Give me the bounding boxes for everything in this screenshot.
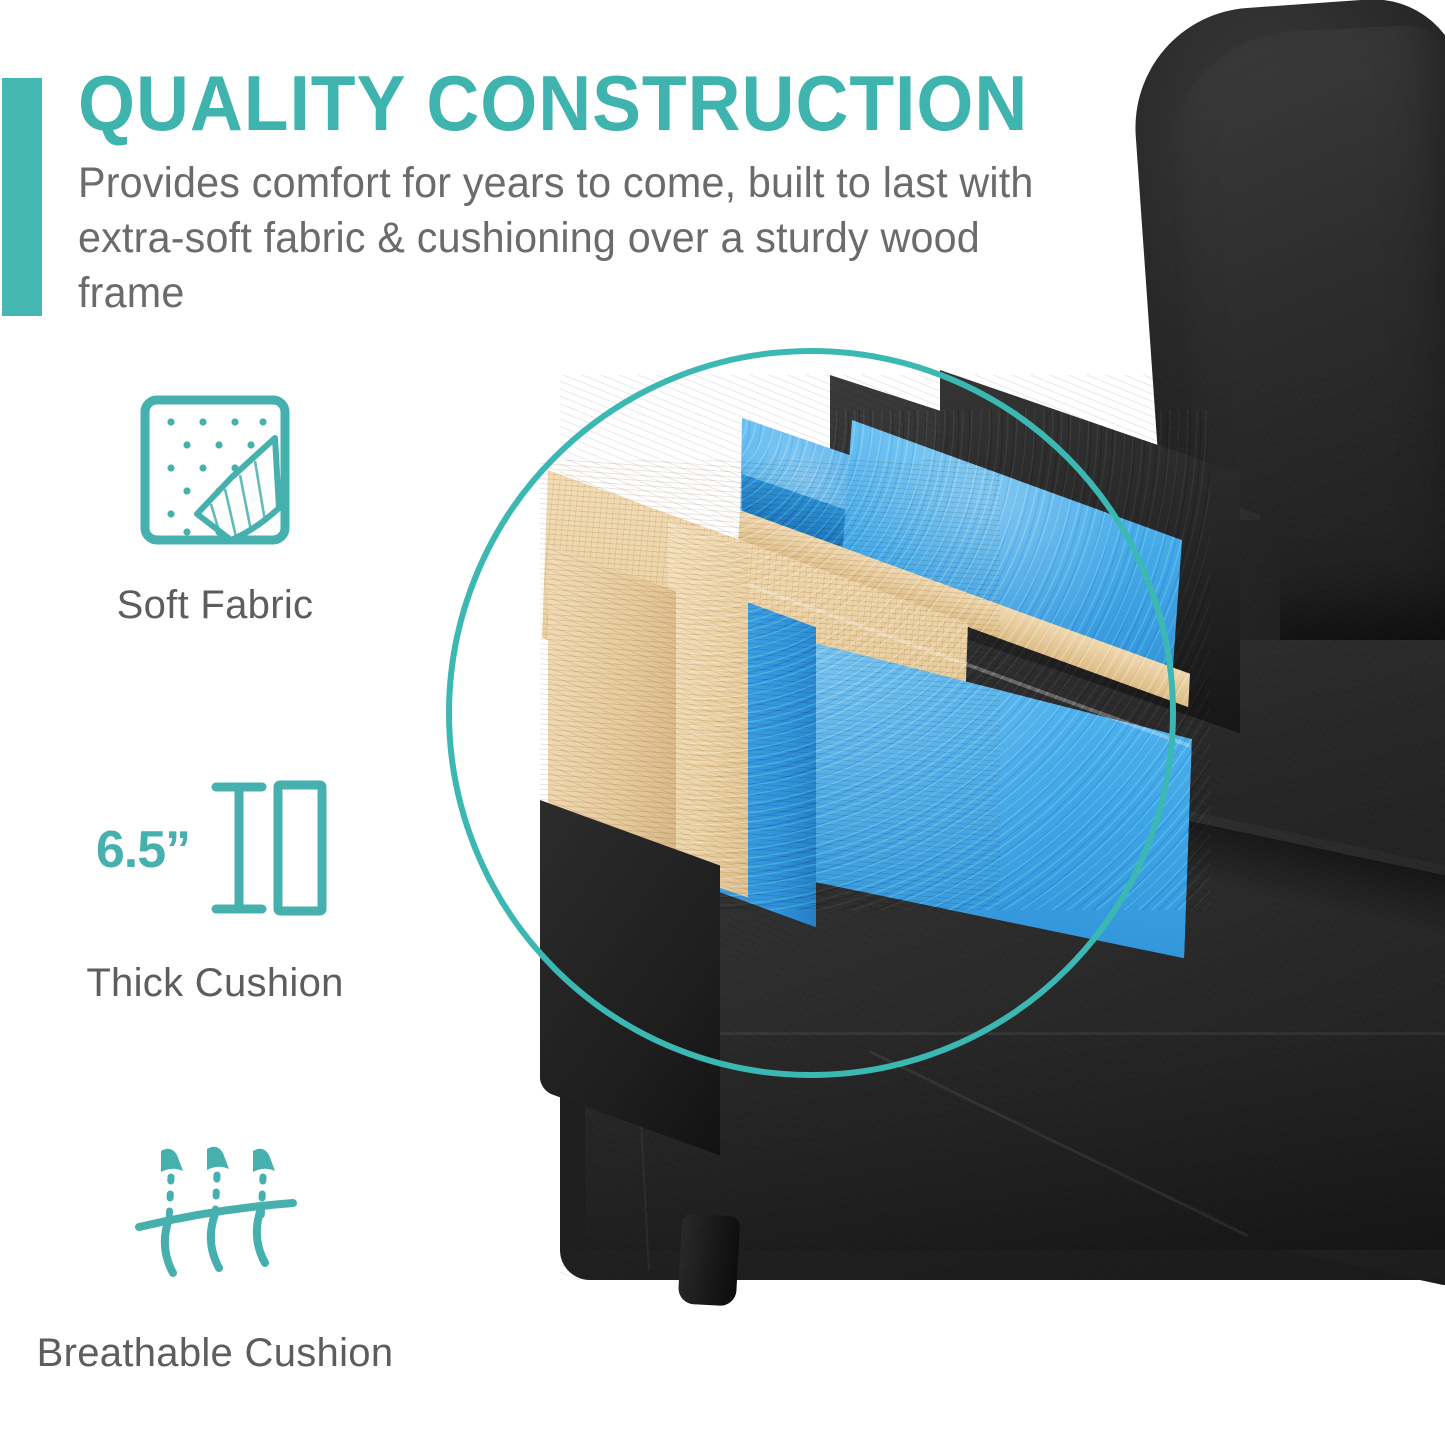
- feature-item-soft-fabric: Soft Fabric: [0, 360, 430, 630]
- infographic-canvas: QUALITY CONSTRUCTION Provides comfort fo…: [0, 0, 1445, 1445]
- sofa-back-cushion: [1127, 0, 1445, 675]
- foam-texture: [690, 410, 1210, 910]
- foam-layer-top: [841, 420, 1182, 696]
- sofa-left-side-panel: [560, 820, 680, 1250]
- feature-item-breathable-cushion: Breathable Cushion: [0, 1108, 430, 1378]
- sofa-skirt-seam: [585, 1032, 1445, 1035]
- sofa-seat-shadow: [620, 700, 1445, 939]
- foam-layer-face: [690, 560, 1192, 1035]
- foam-layer-side: [700, 585, 816, 927]
- feature-label-thick-cushion: Thick Cushion: [0, 958, 430, 1008]
- sofa-leg: [678, 1214, 741, 1307]
- header-accent-bar: [2, 78, 42, 316]
- sofa-seam-diagonal: [869, 1050, 1248, 1237]
- feature-list: Soft Fabric 6.5” Thick Cushion: [0, 360, 430, 1378]
- breathable-cushion-icon-wrap: [0, 1108, 430, 1328]
- feature-item-thick-cushion: 6.5” Thick Cushion: [0, 738, 430, 1008]
- page-title: QUALITY CONSTRUCTION: [78, 60, 1037, 146]
- sofa-armrest-front: [980, 520, 1280, 940]
- breathable-cushion-icon: [125, 1143, 305, 1293]
- cushion-thickness-icon: [204, 773, 334, 923]
- soft-fabric-icon: [135, 390, 295, 550]
- wood-frame-side: [668, 520, 748, 898]
- sofa-body: [560, 640, 1445, 1280]
- feature-label-soft-fabric: Soft Fabric: [0, 580, 430, 630]
- header-block: QUALITY CONSTRUCTION Provides comfort fo…: [78, 60, 1098, 321]
- wood-frame-top: [542, 470, 968, 791]
- sofa-fabric-texture: [560, 375, 1445, 1280]
- sofa-seam-vertical: [639, 1101, 650, 1271]
- foam-layer-seam: [740, 580, 1190, 748]
- page-subtitle: Provides comfort for years to come, buil…: [78, 156, 1057, 321]
- feature-label-breathable-cushion: Breathable Cushion: [0, 1328, 430, 1378]
- cushion-thickness-value: 6.5”: [96, 820, 190, 880]
- soft-fabric-icon-wrap: [0, 360, 430, 580]
- callout-circle: [446, 348, 1176, 1078]
- sofa-armrest-top: [830, 375, 1260, 815]
- foam-layer-top-small: [740, 418, 954, 610]
- armrest-fabric-back: [940, 370, 1240, 733]
- wood-grain-texture: [540, 460, 1000, 910]
- wood-frame-strip: [738, 510, 1190, 707]
- sofa-base-skirt: [585, 1035, 1445, 1250]
- cushion-thickness-icon-wrap: 6.5”: [0, 738, 430, 958]
- cushion-measure-row: 6.5”: [96, 773, 334, 923]
- foam-layer-top-small-edge: [742, 474, 954, 589]
- wood-frame-face: [548, 545, 676, 932]
- sofa-back-cushion-highlight: [1162, 23, 1445, 658]
- sofa-seat-cushion: [620, 690, 1445, 1289]
- armrest-fabric-lower: [540, 800, 720, 1156]
